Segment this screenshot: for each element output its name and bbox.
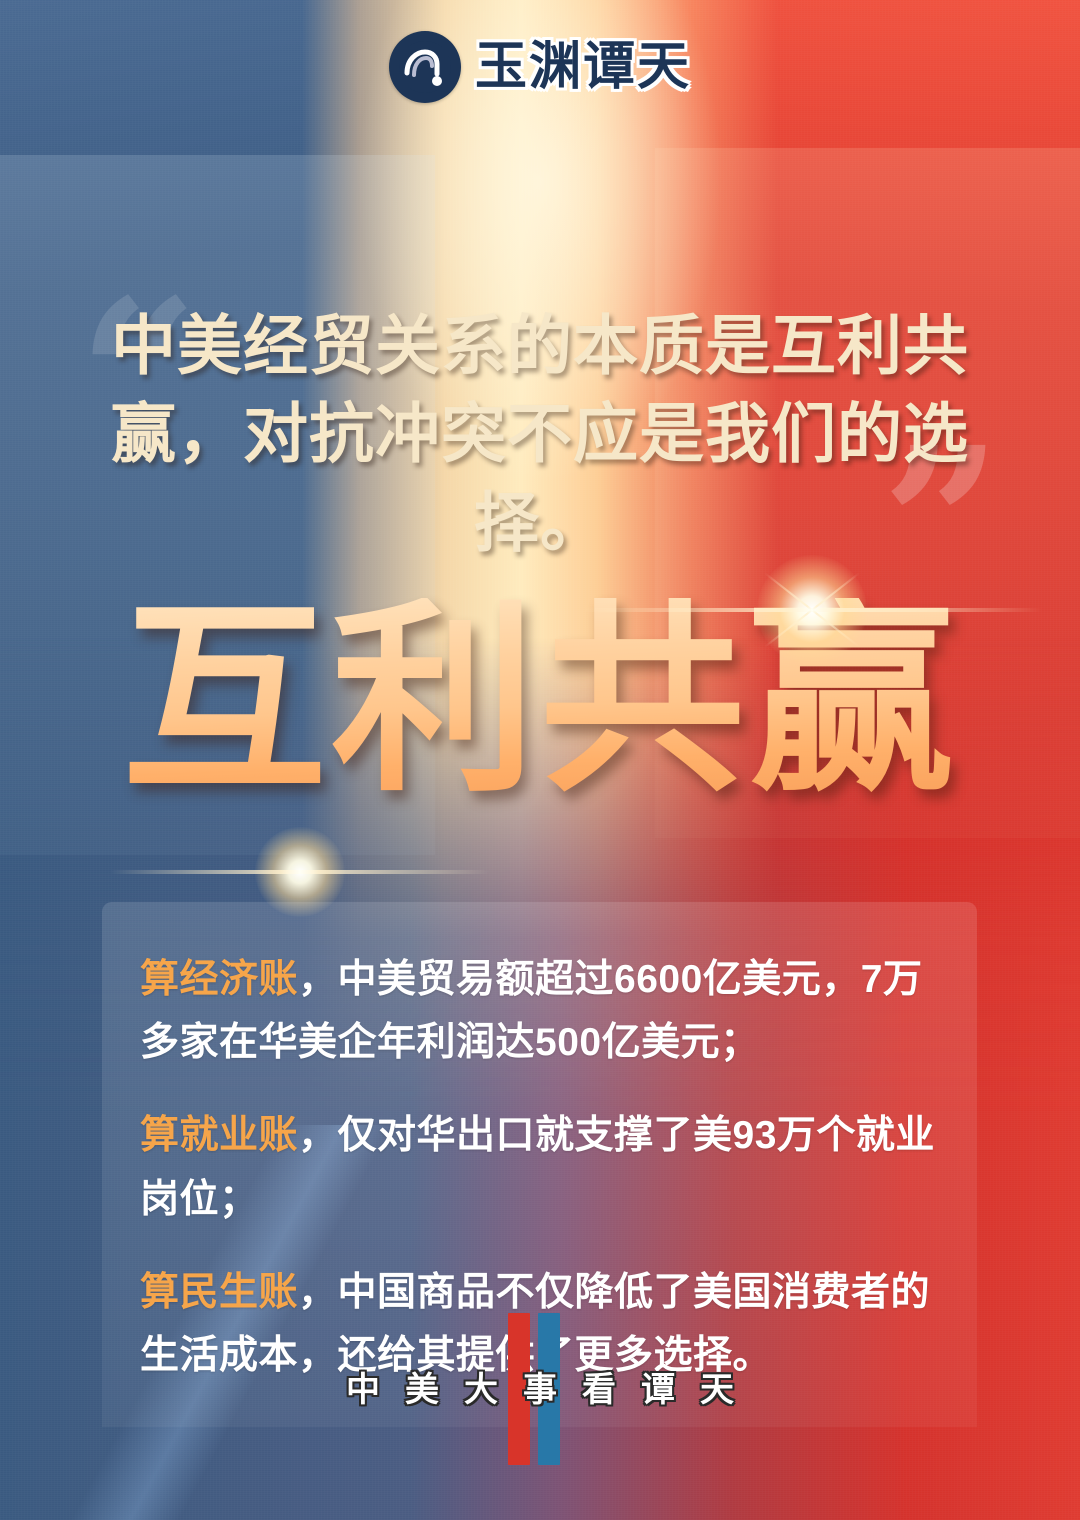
- poster-canvas: 玉渊谭天 “ ” 中美经贸关系的本质是互利共赢，对抗冲突不应是我们的选择。 互利…: [0, 0, 1080, 1520]
- wave-emblem-icon: [389, 31, 461, 103]
- footer-slogan: 中美大事看谭天: [0, 1362, 1080, 1411]
- brand-logo: 玉渊谭天: [0, 28, 1080, 106]
- paragraph-economy: 算经济账，中美贸易额超过6600亿美元，7万多家在华美企年利润达500亿美元；: [140, 948, 939, 1074]
- headline-text: 互利共赢: [122, 598, 958, 803]
- paragraph-economy-tag: 算经济账: [140, 958, 298, 1001]
- quote-text: 中美经贸关系的本质是互利共赢，对抗冲突不应是我们的选择。: [64, 302, 1016, 567]
- paragraph-employment-tag: 算就业账: [140, 1114, 298, 1157]
- headline-block: 互利共赢: [0, 560, 1080, 840]
- paragraph-employment: 算就业账，仅对华出口就支撑了美93万个就业岗位；: [140, 1104, 939, 1230]
- brand-name: 玉渊谭天: [475, 41, 691, 93]
- quote-block: “ ” 中美经贸关系的本质是互利共赢，对抗冲突不应是我们的选择。: [0, 290, 1080, 510]
- footer-block: 中美大事看谭天: [0, 1300, 1080, 1500]
